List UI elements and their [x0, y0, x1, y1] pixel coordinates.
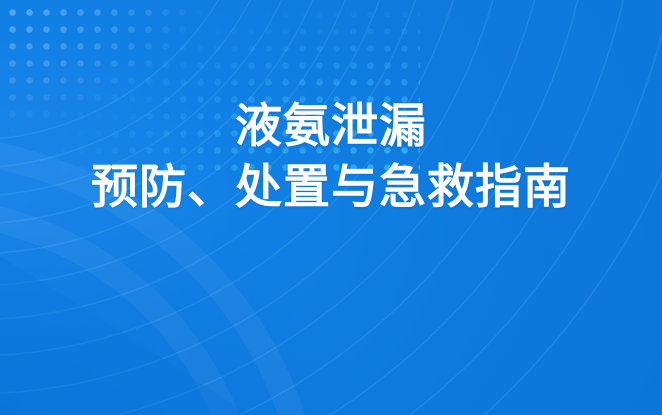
title-line-primary: 液氨泄漏 [0, 96, 662, 157]
poster-title: 液氨泄漏 预防、处置与急救指南 [0, 96, 662, 218]
poster-banner: 液氨泄漏 预防、处置与急救指南 [0, 0, 662, 415]
title-line-secondary: 预防、处置与急救指南 [0, 157, 662, 218]
